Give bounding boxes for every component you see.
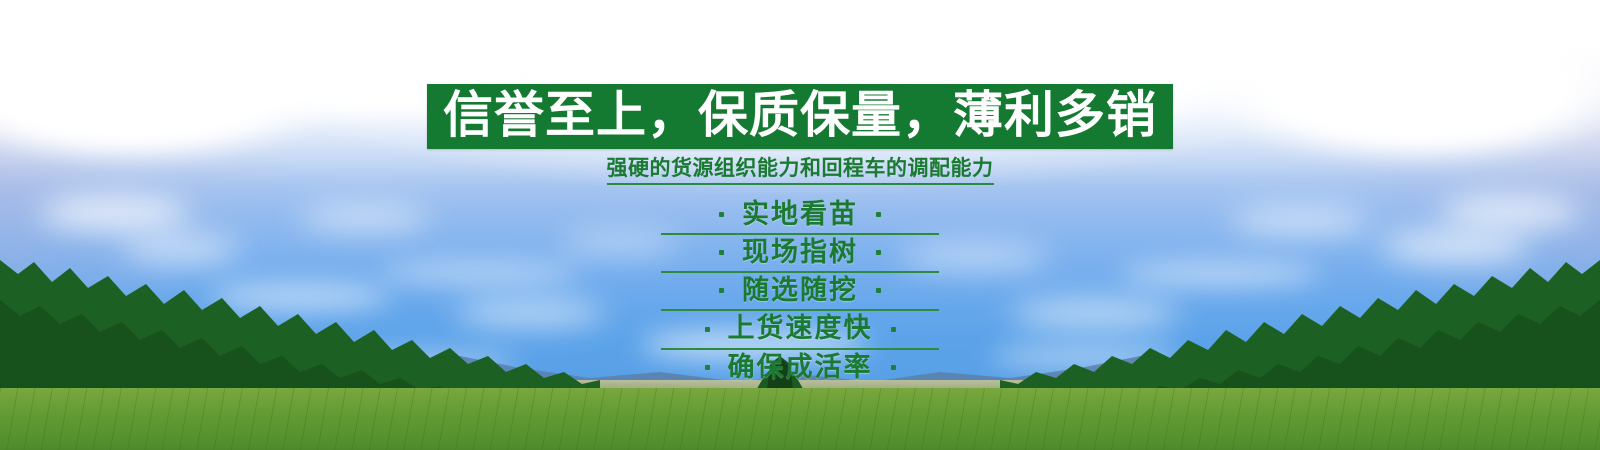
feature-label: 确保成活率	[728, 353, 873, 382]
headline-bar: 信誉至上，保质保量，薄利多销	[427, 84, 1173, 149]
bullet-dot-icon	[876, 288, 881, 293]
promo-banner: 信誉至上，保质保量，薄利多销 强硬的货源组织能力和回程车的调配能力 实地看苗 现…	[0, 0, 1600, 450]
feature-row: 实地看苗	[661, 197, 939, 235]
banner-content: 信誉至上，保质保量，薄利多销 强硬的货源组织能力和回程车的调配能力 实地看苗 现…	[0, 0, 1600, 450]
feature-row: 上货速度快	[661, 311, 939, 349]
feature-label: 上货速度快	[728, 314, 873, 343]
bullet-dot-icon	[891, 327, 896, 332]
bullet-dot-icon	[705, 365, 710, 370]
feature-list: 实地看苗 现场指树 随选随挖 上货速度快 确保成活率	[661, 197, 939, 386]
subtitle-text: 强硬的货源组织能力和回程车的调配能力	[607, 158, 994, 185]
feature-label: 现场指树	[742, 238, 858, 267]
feature-label: 实地看苗	[742, 200, 858, 229]
bullet-dot-icon	[719, 250, 724, 255]
bullet-dot-icon	[719, 212, 724, 217]
bullet-dot-icon	[876, 212, 881, 217]
bullet-dot-icon	[705, 327, 710, 332]
bullet-dot-icon	[891, 365, 896, 370]
feature-row: 确保成活率	[661, 350, 939, 386]
headline-text: 信誉至上，保质保量，薄利多销	[443, 90, 1157, 140]
bullet-dot-icon	[876, 250, 881, 255]
feature-row: 随选随挖	[661, 273, 939, 311]
feature-row: 现场指树	[661, 235, 939, 273]
bullet-dot-icon	[719, 288, 724, 293]
feature-label: 随选随挖	[742, 276, 858, 305]
